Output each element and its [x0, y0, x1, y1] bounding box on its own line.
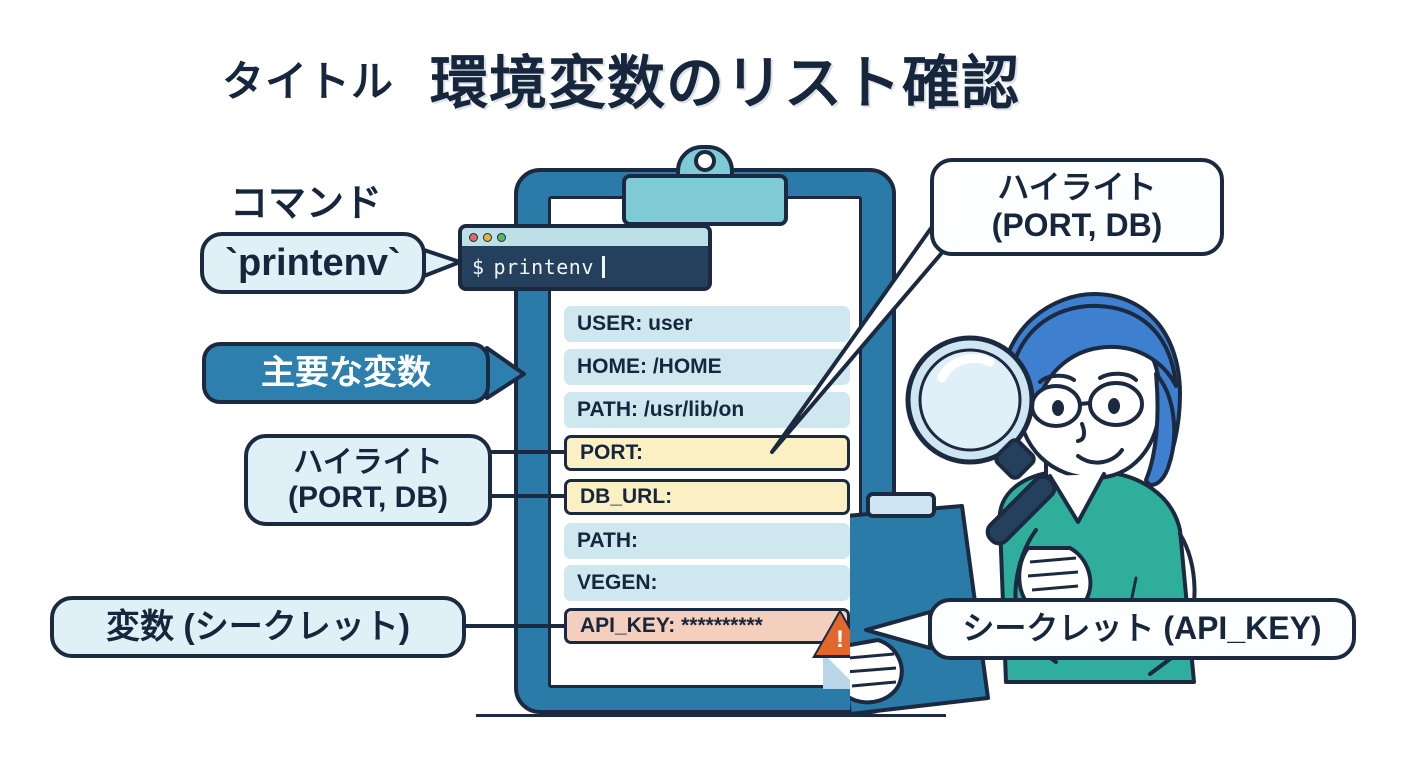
var-row-vegen: VEGEN: — [564, 565, 850, 601]
secret-bubble-left[interactable]: 変数 (シークレット) — [50, 596, 466, 658]
highlight-callout-right[interactable]: ハイライト (PORT, DB) — [930, 158, 1224, 256]
var-row-path-2: PATH: — [564, 523, 850, 559]
terminal-command: printenv — [494, 255, 594, 279]
clipboard-clip-head — [622, 174, 788, 226]
window-close-dot-icon[interactable] — [469, 233, 478, 242]
terminal-titlebar — [462, 228, 708, 246]
ground-line — [476, 714, 946, 717]
terminal-cursor — [602, 256, 605, 278]
var-row-path-1: PATH: /usr/lib/on — [564, 392, 850, 428]
window-maximize-dot-icon[interactable] — [497, 233, 506, 242]
terminal-window: $ printenv — [458, 224, 712, 291]
page-title: 環境変数のリスト確認 — [430, 36, 1020, 120]
highlight-bubble-left-line2: (PORT, DB) — [288, 480, 448, 515]
var-row-api-key: API_KEY: ********** — [564, 608, 850, 644]
highlight-bubble-left-line1: ハイライト — [293, 445, 442, 480]
terminal-prompt: $ — [472, 255, 485, 279]
var-row-user: USER: user — [564, 306, 850, 342]
warning-exclamation: ! — [834, 627, 846, 653]
command-label: コマンド — [230, 172, 382, 227]
var-row-home: HOME: /HOME — [564, 349, 850, 385]
highlight-callout-right-line1: ハイライト — [997, 169, 1156, 207]
var-row-port: PORT: — [564, 435, 850, 471]
command-bubble[interactable]: `printenv` — [200, 232, 426, 294]
command-bubble-tail — [424, 250, 460, 276]
infographic-canvas: タイトル 環境変数のリスト確認 USER: user HOME: /HOME P… — [0, 0, 1408, 768]
highlight-callout-right-line2: (PORT, DB) — [992, 207, 1163, 245]
clipboard-clip-hole-icon — [694, 150, 716, 172]
highlight-bubble-left[interactable]: ハイライト (PORT, DB) — [244, 434, 492, 526]
secret-callout-right[interactable]: シークレット (API_KEY) — [928, 598, 1356, 660]
main-vars-bubble[interactable]: 主要な変数 — [202, 342, 490, 404]
var-row-db-url: DB_URL: — [564, 479, 850, 515]
terminal-body: $ printenv — [462, 246, 708, 287]
window-minimize-dot-icon[interactable] — [483, 233, 492, 242]
title-kicker: タイトル — [222, 48, 394, 109]
hand-holding-clipboard — [850, 640, 902, 702]
